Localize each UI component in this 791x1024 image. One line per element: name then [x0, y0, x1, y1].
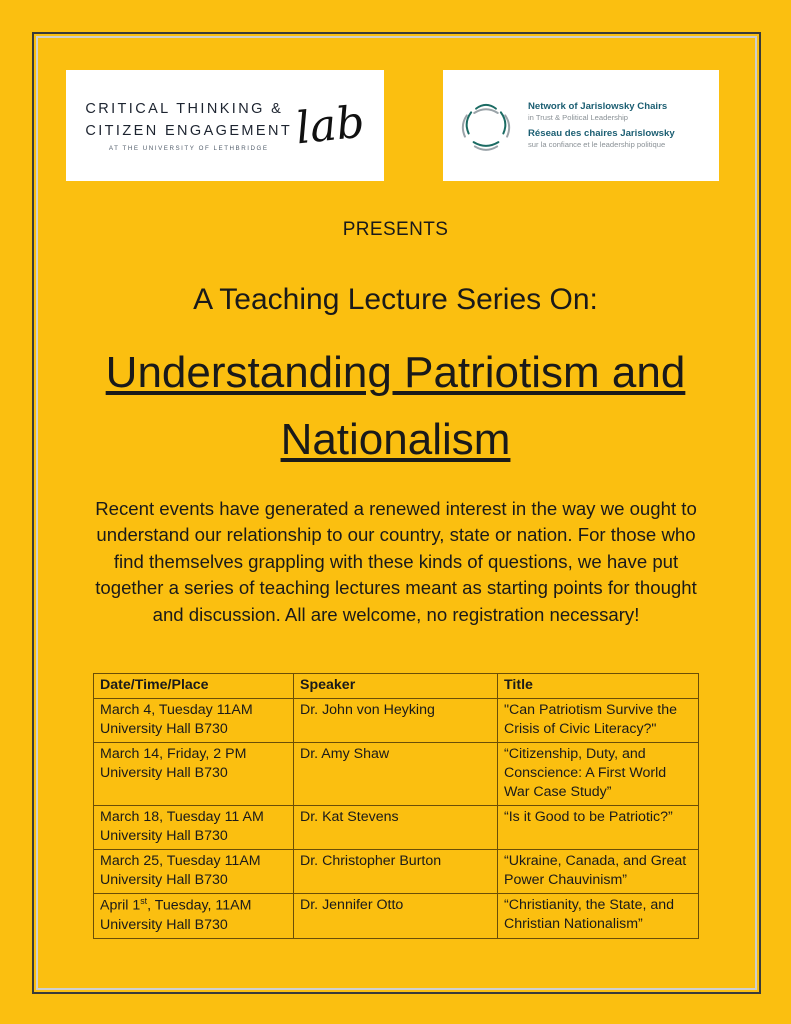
- cell-date-prefix: April 1: [100, 898, 140, 914]
- column-header-speaker: Speaker: [294, 674, 498, 699]
- jarislowsky-star-icon: [455, 95, 517, 157]
- cell-place: University Hall B730: [100, 720, 287, 739]
- cell-title: “Ukraine, Canada, and Great Power Chauvi…: [498, 850, 699, 894]
- cell-speaker: Dr. Jennifer Otto: [294, 894, 498, 939]
- cell-date: March 25, Tuesday 11AM: [100, 852, 287, 871]
- cell-title: “Is it Good to be Patriotic?”: [498, 806, 699, 850]
- cell-date-suffix: , Tuesday, 11AM: [147, 898, 251, 914]
- cell-date: March 18, Tuesday 11 AM: [100, 808, 287, 827]
- table-row: April 1st, Tuesday, 11AM University Hall…: [94, 894, 699, 939]
- series-subtitle: A Teaching Lecture Series On:: [0, 283, 791, 317]
- njc-title-en: Network of Jarislowsky Chairs: [528, 101, 675, 113]
- column-header-title: Title: [498, 674, 699, 699]
- table-row: March 25, Tuesday 11AM University Hall B…: [94, 850, 699, 894]
- njc-title-fr: Réseau des chaires Jarislowsky: [528, 128, 675, 140]
- cell-title: "Can Patriotism Survive the Crisis of Ci…: [498, 699, 699, 743]
- cell-place: University Hall B730: [100, 916, 287, 935]
- poster: CRITICAL THINKING & CITIZEN ENGAGEMENT A…: [0, 0, 791, 1024]
- logo-network-jarislowsky-chairs: Network of Jarislowsky Chairs in Trust &…: [443, 70, 719, 181]
- table-row: March 4, Tuesday 11AM University Hall B7…: [94, 699, 699, 743]
- logo-row: CRITICAL THINKING & CITIZEN ENGAGEMENT A…: [0, 70, 791, 182]
- njc-subtitle-fr: sur la confiance et le leadership politi…: [528, 140, 675, 150]
- presents-label: PRESENTS: [0, 219, 791, 241]
- table-header-row: Date/Time/Place Speaker Title: [94, 674, 699, 699]
- cell-speaker: Dr. Christopher Burton: [294, 850, 498, 894]
- cell-speaker: Dr. Kat Stevens: [294, 806, 498, 850]
- cell-title: “Christianity, the State, and Christian …: [498, 894, 699, 939]
- table-row: March 18, Tuesday 11 AM University Hall …: [94, 806, 699, 850]
- cell-place: University Hall B730: [100, 764, 287, 783]
- ctce-line2: CITIZEN ENGAGEMENT: [85, 121, 292, 143]
- description-paragraph: Recent events have generated a renewed i…: [86, 496, 706, 628]
- cell-speaker: Dr. Amy Shaw: [294, 743, 498, 806]
- logo-critical-thinking-lab: CRITICAL THINKING & CITIZEN ENGAGEMENT A…: [66, 70, 384, 181]
- cell-datetime-place: March 18, Tuesday 11 AM University Hall …: [94, 806, 294, 850]
- schedule-table: Date/Time/Place Speaker Title March 4, T…: [93, 673, 699, 939]
- cell-date: April 1st, Tuesday, 11AM: [100, 896, 287, 916]
- ctce-wordblock: CRITICAL THINKING & CITIZEN ENGAGEMENT A…: [85, 99, 292, 153]
- ctce-subtitle: AT THE UNIVERSITY OF LETHBRIDGE: [85, 145, 292, 152]
- cell-datetime-place: March 14, Friday, 2 PM University Hall B…: [94, 743, 294, 806]
- cell-datetime-place: March 4, Tuesday 11AM University Hall B7…: [94, 699, 294, 743]
- cell-date: March 14, Friday, 2 PM: [100, 745, 287, 764]
- cell-datetime-place: April 1st, Tuesday, 11AM University Hall…: [94, 894, 294, 939]
- cell-place: University Hall B730: [100, 871, 287, 890]
- cell-date: March 4, Tuesday 11AM: [100, 701, 287, 720]
- ctce-line1: CRITICAL THINKING &: [85, 99, 292, 121]
- cell-datetime-place: March 25, Tuesday 11AM University Hall B…: [94, 850, 294, 894]
- cell-speaker: Dr. John von Heyking: [294, 699, 498, 743]
- ctce-lab-wordmark: lab: [294, 102, 366, 149]
- schedule-table-body: March 4, Tuesday 11AM University Hall B7…: [94, 699, 699, 939]
- cell-title: “Citizenship, Duty, and Conscience: A Fi…: [498, 743, 699, 806]
- njc-subtitle-en: in Trust & Political Leadership: [528, 113, 675, 123]
- cell-place: University Hall B730: [100, 827, 287, 846]
- page-title: Understanding Patriotism and Nationalism: [80, 340, 711, 474]
- table-row: March 14, Friday, 2 PM University Hall B…: [94, 743, 699, 806]
- schedule-table-wrapper: Date/Time/Place Speaker Title March 4, T…: [93, 673, 698, 939]
- column-header-date: Date/Time/Place: [94, 674, 294, 699]
